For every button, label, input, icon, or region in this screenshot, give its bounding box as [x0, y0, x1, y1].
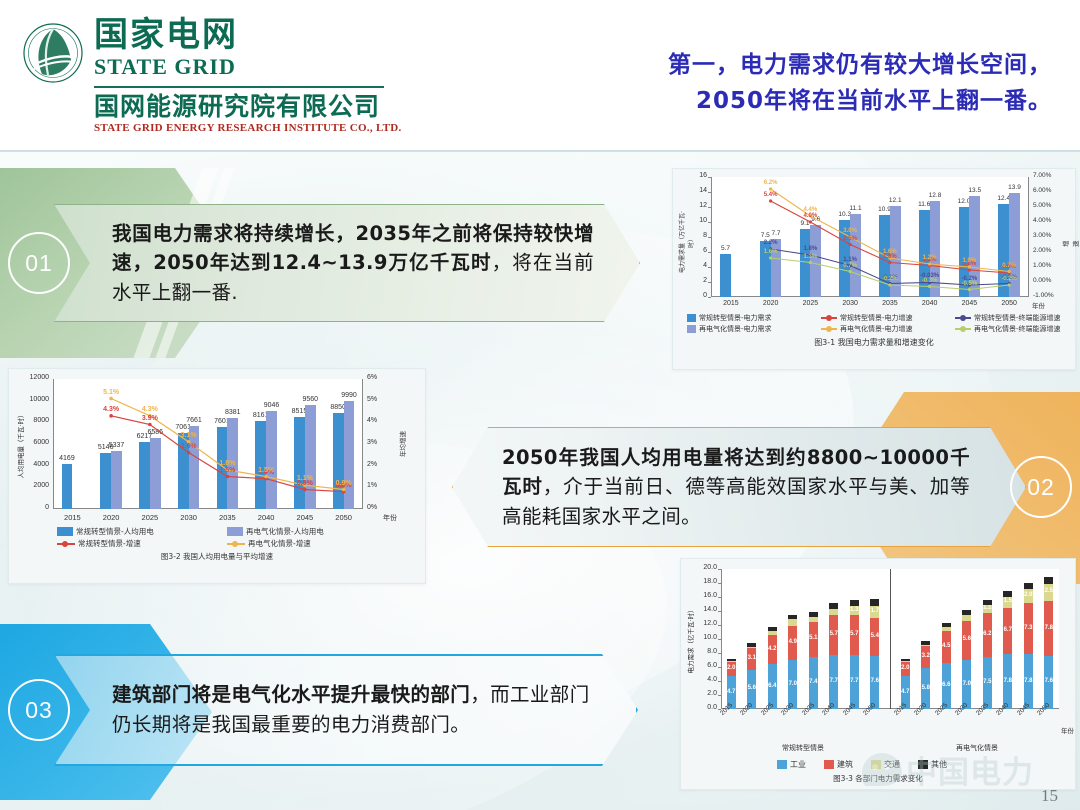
fig3-2-xlabel: 年份 — [383, 513, 397, 523]
fig3-3-segment-label: 7.7 — [826, 678, 841, 684]
fig3-3-bar-segment — [1024, 583, 1033, 589]
fig3-3-segment-label: 7.0 — [959, 681, 974, 687]
fig3-1-caption: 图3-1 我国电力需求量和增速变化 — [673, 337, 1075, 348]
fig3-3-segment-label: 7.6 — [1041, 678, 1056, 684]
fig3-1-xtick: 2040 — [910, 300, 950, 307]
fig3-2-legend-label: 再电气化情景-增速 — [248, 538, 311, 549]
logo-company-cn: 国家电网 — [94, 18, 402, 54]
institute-name-en: STATE GRID ENERGY RESEARCH INSTITUTE CO.… — [94, 122, 402, 134]
banner-2-chevron: 2050年我国人均用电量将达到约8800~10000千瓦时，介于当前日、德等高能… — [452, 427, 1026, 547]
fig3-1-ytick: 2 — [681, 277, 707, 284]
banner-1-chevron: 我国电力需求将持续增长，2035年之前将保持较快增速，2050年达到12.4~1… — [54, 204, 640, 322]
fig3-3-group-label: 常规转型情景 — [721, 743, 885, 753]
fig3-1-line-label: 1.0% — [957, 258, 981, 264]
fig3-1-legend-swatch — [821, 328, 837, 330]
fig3-2-y2tick: 3% — [367, 439, 377, 446]
fig3-1-legend-item: 再电气化情景-终端能源增速 — [955, 324, 1079, 334]
fig3-3-legend-swatch — [824, 760, 834, 769]
fig3-3-segment-label: 6.6 — [939, 682, 954, 688]
fig3-3-segment-label: 7.3 — [1021, 625, 1036, 631]
fig3-1-y2tick: 6.00% — [1033, 187, 1051, 194]
fig3-1-y2tick: -1.00% — [1033, 292, 1054, 299]
fig3-2-line-label: 3.1% — [175, 432, 203, 439]
fig3-2-legend-label: 常规转型情景-增速 — [78, 538, 141, 549]
key-point-banner-2[interactable]: 02 2050年我国人均用电量将达到约8800~10000千瓦时，介于当前日、德… — [452, 420, 1072, 554]
banner-3-number-badge: 03 — [8, 679, 70, 741]
fig3-3-bar-segment — [768, 631, 777, 635]
fig3-1-line-label: 3.0% — [838, 228, 862, 234]
fig3-1-xlabel: 年份 — [1032, 300, 1045, 310]
fig3-3-bar-segment — [829, 609, 838, 615]
fig3-1-legend-label: 常规转型情景-电力需求 — [699, 313, 772, 323]
fig3-3-bar-segment — [983, 600, 992, 606]
fig3-1-xtick: 2030 — [830, 300, 870, 307]
slide-title-line1: 第一，电力需求仍有较大增长空间， — [668, 52, 1052, 78]
fig3-3-bar-segment — [921, 645, 930, 646]
fig3-3-ytick-mark — [718, 625, 721, 626]
header-divider — [0, 150, 1080, 152]
fig3-3-bar-segment — [901, 661, 910, 662]
fig3-3-segment-label: 6.2 — [980, 631, 995, 637]
slide-header: 国家电网 STATE GRID 国网能源研究院有限公司 STATE GRID E… — [0, 0, 1080, 152]
fig3-3-segment-label: 1.5 — [1000, 598, 1015, 604]
fig3-2-legend-swatch — [227, 543, 245, 545]
fig3-2-legend-item: 常规转型情景-增速 — [57, 538, 217, 549]
fig3-3-segment-label: 3.1 — [744, 655, 759, 661]
fig3-1-legend-swatch — [955, 328, 971, 330]
fig3-3-bar-segment — [809, 617, 818, 621]
fig3-1-ytick: 16 — [681, 172, 707, 179]
wechat-icon — [862, 753, 902, 786]
fig3-1-line-label: 1.6% — [759, 249, 783, 255]
fig3-3-ytick-mark — [718, 639, 721, 640]
fig3-1-legend-swatch — [687, 325, 696, 333]
fig3-3-bar-segment — [788, 619, 797, 625]
fig3-3-segment-label: 2.0 — [898, 665, 913, 671]
chart-card-fig3-1: 5.77.59.110.310.911.612.012.47.79.611.11… — [672, 168, 1076, 370]
fig3-3-segment-label: 5.6 — [959, 636, 974, 642]
fig3-3-segment-label: 7.8 — [1021, 678, 1036, 684]
fig3-1-xtick: 2015 — [711, 300, 751, 307]
fig3-1-legend-label: 再电气化情景-电力需求 — [699, 324, 772, 334]
fig3-1-line-label: 4.4% — [798, 207, 822, 213]
fig3-3-ytick-mark — [718, 667, 721, 668]
fig3-3-bar-segment — [727, 661, 736, 662]
fig3-1-line-label: -0.2% — [878, 276, 902, 282]
fig3-3-bar-segment — [727, 659, 736, 662]
fig3-3-segment-label: 7.6 — [867, 678, 882, 684]
fig3-1-legend-row: 常规转型情景-电力需求常规转型情景-电力增速常规转型情景-终端能源增速 — [687, 313, 1080, 323]
fig3-3-segment-label: 1.3 — [847, 607, 862, 613]
fig3-3-segment-label: 5.7 — [847, 631, 862, 637]
fig3-3-ytick: 0.0 — [685, 704, 717, 711]
fig3-1-xtick: 2045 — [950, 300, 990, 307]
fig3-2-line-label: 1.8% — [213, 460, 241, 467]
fig3-2-legend-swatch — [57, 543, 75, 545]
fig3-2-ytick: 12000 — [17, 374, 49, 381]
fig3-3-plot-area: 4.72.020155.63.120206.44.220257.04.92030… — [721, 569, 1059, 709]
fig3-2-xtick: 2030 — [169, 513, 208, 522]
fig3-1-legend-item: 再电气化情景-电力需求 — [687, 324, 811, 334]
fig3-1-ylabel: 电力需求量（万亿千瓦·时） — [677, 207, 695, 277]
watermark: 中国电力 — [862, 747, 1034, 792]
fig3-2-y2tick: 5% — [367, 396, 377, 403]
fig3-1-line-label: 4.0% — [798, 213, 822, 219]
fig3-3-segment-label: 7.8 — [1000, 678, 1015, 684]
fig3-3-ytick: 4.0 — [685, 676, 717, 683]
fig3-3-segment-label: 5.4 — [867, 633, 882, 639]
fig3-1-ytick: 0 — [681, 292, 707, 299]
banner-2-normal-text: ，介于当前日、德等高能效国家水平与美、加等高能耗国家水平之间。 — [502, 475, 970, 528]
slide-page: 国家电网 STATE GRID 国网能源研究院有限公司 STATE GRID E… — [0, 0, 1080, 810]
fig3-3-segment-label: 2.0 — [724, 665, 739, 671]
globe-logo-icon — [22, 22, 84, 84]
fig3-3-segment-label: 6.4 — [765, 683, 780, 689]
fig3-3-segment-label: 5.1 — [806, 635, 821, 641]
fig3-3-ytick-mark — [718, 569, 721, 570]
fig3-1-legend-label: 再电气化情景-终端能源增速 — [974, 324, 1061, 334]
fig3-3-bar-segment — [829, 603, 838, 609]
fig3-1-line-label: 6.2% — [759, 180, 783, 186]
fig3-1-y2tick: 1.00% — [1033, 262, 1051, 269]
fig3-3-bar-segment — [962, 615, 971, 621]
fig3-3-segment-label: 1.7 — [867, 608, 882, 614]
fig3-3-segment-label: 4.2 — [765, 646, 780, 652]
fig3-3-segment-label: 7.0 — [785, 681, 800, 687]
fig3-3-segment-label: 7.5 — [980, 679, 995, 685]
fig3-1-legend-item: 常规转型情景-电力需求 — [687, 313, 811, 323]
fig3-3-segment-label: 7.4 — [806, 679, 821, 685]
fig3-3-bar-segment — [921, 641, 930, 645]
fig3-1-ytick: 14 — [681, 187, 707, 194]
fig3-1-line-label: -0.5% — [957, 281, 981, 287]
fig3-3-bar-segment — [788, 615, 797, 620]
banner-1-number-badge: 01 — [8, 232, 70, 294]
fig3-2-ylabel: 人均用电量（千瓦·时） — [15, 410, 25, 480]
fig3-3-ytick-mark — [718, 583, 721, 584]
fig3-3-xlabel: 年份 — [1061, 725, 1074, 735]
fig3-2-y2label: 年均增速 — [397, 431, 407, 457]
fig3-3-bar-segment — [809, 612, 818, 618]
fig3-1-legend-item: 常规转型情景-电力增速 — [821, 313, 945, 323]
fig3-2-line-label: 4.3% — [97, 406, 125, 413]
key-point-banner-1[interactable]: 01 我国电力需求将持续增长，2035年之前将保持较快增速，2050年达到12.… — [8, 198, 640, 328]
fig3-3-bar-segment — [768, 627, 777, 631]
fig3-3-segment-label: 4.5 — [939, 643, 954, 649]
fig3-3-segment-label: 4.7 — [898, 689, 913, 695]
fig3-1-line-label: 0.7% — [838, 263, 862, 269]
fig3-3-ylabel: 电力需求（亿千瓦·时） — [685, 605, 695, 675]
fig3-1-y2tick: 4.00% — [1033, 217, 1051, 224]
banner-2-number-badge: 02 — [1010, 456, 1072, 518]
fig3-2-xtick: 2050 — [324, 513, 363, 522]
fig3-2-ytick: 2000 — [17, 482, 49, 489]
fig3-3-segment-label: 5.8 — [918, 685, 933, 691]
fig3-2-xtick: 2035 — [208, 513, 247, 522]
fig3-1-legend-swatch — [955, 317, 971, 319]
fig3-3-segment-label: 4.7 — [724, 689, 739, 695]
fig3-3-bar-segment — [1003, 591, 1012, 597]
fig3-1-legend-swatch — [687, 314, 696, 322]
fig3-3-segment-label: 5.7 — [826, 631, 841, 637]
fig3-2-y2tick: 4% — [367, 417, 377, 424]
fig3-2-line-label: 1.1% — [291, 475, 319, 482]
fig3-2-line-label: 3.9% — [136, 415, 164, 422]
fig3-3-segment-label: 5.6 — [744, 685, 759, 691]
fig3-1-line-label: 0.7% — [997, 263, 1021, 269]
fig3-3-ytick-mark — [718, 653, 721, 654]
fig3-2-legend-row: 常规转型情景-增速再电气化情景-增速 — [57, 538, 397, 549]
fig3-3-ytick-mark — [718, 681, 721, 682]
state-grid-logo: 国家电网 STATE GRID 国网能源研究院有限公司 STATE GRID E… — [22, 18, 402, 134]
fig3-2-legend-row: 常规转型情景-人均用电再电气化情景-人均用电 — [57, 526, 397, 537]
fig3-1-xtick: 2025 — [791, 300, 831, 307]
fig3-1-line-label: 2.2% — [759, 240, 783, 246]
fig3-2-y2tick: 6% — [367, 374, 377, 381]
slide-title: 第一，电力需求仍有较大增长空间， 2050年将在当前水平上翻一番。 — [532, 48, 1052, 119]
fig3-1-y2tick: 7.00% — [1033, 172, 1051, 179]
logo-divider — [94, 86, 384, 88]
fig3-1-y2tick: 5.00% — [1033, 202, 1051, 209]
fig3-2-caption: 图3-2 我国人均用电量与平均增速 — [9, 551, 425, 562]
fig3-2-line-label: 0.9% — [330, 480, 358, 487]
fig3-3-segment-label: 2.5 — [1041, 588, 1056, 594]
fig3-3-ytick-mark — [718, 597, 721, 598]
fig3-3-segment-label: 4.9 — [785, 639, 800, 645]
fig3-2-ytick: 0 — [17, 504, 49, 511]
fig3-2-y2tick: 0% — [367, 504, 377, 511]
fig3-3-legend-item: 建筑 — [824, 759, 853, 770]
fig3-3-bar-segment — [942, 627, 951, 631]
fig3-3-legend-item: 工业 — [777, 759, 806, 770]
banner-3-bold-text: 建筑部门将是电气化水平提升最快的部门 — [112, 683, 470, 706]
fig3-3-bar-segment — [962, 610, 971, 615]
fig3-2-y2tick: 1% — [367, 482, 377, 489]
fig3-2-line-label: 1.5% — [213, 467, 241, 474]
fig3-3-ytick: 2.0 — [685, 690, 717, 697]
fig3-1-legend-item: 再电气化情景-电力增速 — [821, 324, 945, 334]
fig3-2-line-label: 1.5% — [252, 467, 280, 474]
fig3-3-segment-label: 6.7 — [1000, 627, 1015, 633]
fig3-2-xtick: 2015 — [53, 513, 92, 522]
fig3-1-legend-swatch — [821, 317, 837, 319]
watermark-text: 中国电力 — [906, 747, 1034, 792]
fig3-3-bar-segment — [747, 643, 756, 647]
fig3-3-bar-segment — [942, 623, 951, 627]
fig3-1-ytick-mark — [708, 297, 711, 298]
fig3-3-bar-segment — [870, 599, 879, 606]
fig3-2-legend-item: 常规转型情景-人均用电 — [57, 526, 217, 537]
fig3-2-legend-item: 再电气化情景-增速 — [227, 538, 387, 549]
fig3-2-xtick: 2045 — [286, 513, 325, 522]
fig3-1-line-label: 1.6% — [878, 249, 902, 255]
banner-3-text: 建筑部门将是电气化水平提升最快的部门，而工业部门仍长期将是我国最重要的电力消费部… — [54, 672, 638, 747]
fig3-2-legend-item: 再电气化情景-人均用电 — [227, 526, 387, 537]
fig3-2-legend-label: 常规转型情景-人均用电 — [76, 526, 154, 537]
fig3-3-segment-label: 7.8 — [1041, 625, 1056, 631]
slide-title-line2: 2050年将在当前水平上翻一番。 — [532, 84, 1052, 120]
fig3-3-group-divider — [890, 569, 891, 709]
fig3-1-legend-label: 常规转型情景-电力增速 — [840, 313, 913, 323]
fig3-2-legend-label: 再电气化情景-人均用电 — [246, 526, 324, 537]
fig3-2-line-label: 5.1% — [97, 389, 125, 396]
fig3-3-ytick: 20.0 — [685, 564, 717, 571]
fig3-3-ytick-mark — [718, 695, 721, 696]
fig3-1-line-label: -0.2% — [997, 276, 1021, 282]
fig3-1-legend-row: 再电气化情景-电力需求再电气化情景-电力增速再电气化情景-终端能源增速 — [687, 324, 1080, 334]
fig3-1-legend-label: 再电气化情景-电力增速 — [840, 324, 913, 334]
fig3-2-y2tick: 2% — [367, 461, 377, 468]
fig3-3-legend-swatch — [777, 760, 787, 769]
fig3-1-y2label: 增速 — [1060, 237, 1080, 247]
fig3-1-line-label: -0.3% — [918, 278, 942, 284]
fig3-1-legend-item: 常规转型情景-终端能源增速 — [955, 313, 1079, 323]
page-number: 15 — [1041, 786, 1058, 806]
fig3-2-xtick: 2020 — [92, 513, 131, 522]
fig3-2-xtick: 2040 — [247, 513, 286, 522]
fig3-3-bar-segment — [901, 659, 910, 662]
key-point-banner-3[interactable]: 03 建筑部门将是电气化水平提升最快的部门，而工业部门仍长期将是我国最重要的电力… — [8, 648, 638, 772]
fig3-3-legend-label: 工业 — [790, 759, 806, 770]
fig3-1-xtick: 2050 — [989, 300, 1029, 307]
banner-3-chevron: 建筑部门将是电气化水平提升最快的部门，而工业部门仍长期将是我国最重要的电力消费部… — [54, 654, 638, 766]
fig3-3-segment-label: 2.0 — [1021, 592, 1036, 598]
fig3-1-y2tick: 3.00% — [1033, 232, 1051, 239]
fig3-2-ytick: 10000 — [17, 396, 49, 403]
fig3-3-bar-segment — [850, 600, 859, 606]
fig3-3-bar-segment — [747, 647, 756, 648]
fig3-1-line-label: 1.3% — [798, 254, 822, 260]
fig3-3-bar-segment — [1044, 577, 1053, 584]
fig3-1-y2tick: 2.00% — [1033, 247, 1051, 254]
fig3-2-legend-swatch — [227, 527, 243, 536]
fig3-2-line-label: 4.3% — [136, 406, 164, 413]
fig3-3-segment-label: 1.1 — [980, 605, 995, 611]
fig3-2-xtick: 2025 — [131, 513, 170, 522]
fig3-3-ytick-mark — [718, 611, 721, 612]
fig3-1-xtick: 2020 — [751, 300, 791, 307]
fig3-2-line-label: 2.6% — [175, 443, 203, 450]
fig3-1-line-label: 1.8% — [798, 246, 822, 252]
fig3-3-legend-label: 建筑 — [837, 759, 853, 770]
institute-name-cn: 国网能源研究院有限公司 — [94, 93, 402, 121]
banner-1-text: 我国电力需求将持续增长，2035年之前将保持较快增速，2050年达到12.4~1… — [54, 211, 640, 316]
fig3-2-plot-area: 4169514662177061760181618515885053376586… — [53, 379, 363, 509]
fig3-2-legend-swatch — [57, 527, 73, 536]
banner-2-text: 2050年我国人均用电量将达到约8800~10000千瓦时，介于当前日、德等高能… — [452, 435, 1026, 540]
chart-card-fig3-2: 4169514662177061760181618515885053376586… — [8, 368, 426, 584]
fig3-3-segment-label: 7.7 — [847, 678, 862, 684]
fig3-3-ytick: 18.0 — [685, 578, 717, 585]
logo-company-en: STATE GRID — [94, 55, 402, 79]
fig3-1-line-label: 2.5% — [838, 236, 862, 242]
fig3-3-ytick: 16.0 — [685, 592, 717, 599]
fig3-1-line-label: 1.2% — [918, 255, 942, 261]
fig3-1-plot-area: 5.77.59.110.310.911.612.012.47.79.611.11… — [711, 177, 1029, 297]
fig3-1-xtick: 2035 — [870, 300, 910, 307]
fig3-3-segment-label: 3.2 — [918, 653, 933, 659]
fig3-1-legend-label: 常规转型情景-终端能源增速 — [974, 313, 1061, 323]
fig3-1-line-label: 5.4% — [759, 192, 783, 198]
fig3-1-y2tick: 0.00% — [1033, 277, 1051, 284]
